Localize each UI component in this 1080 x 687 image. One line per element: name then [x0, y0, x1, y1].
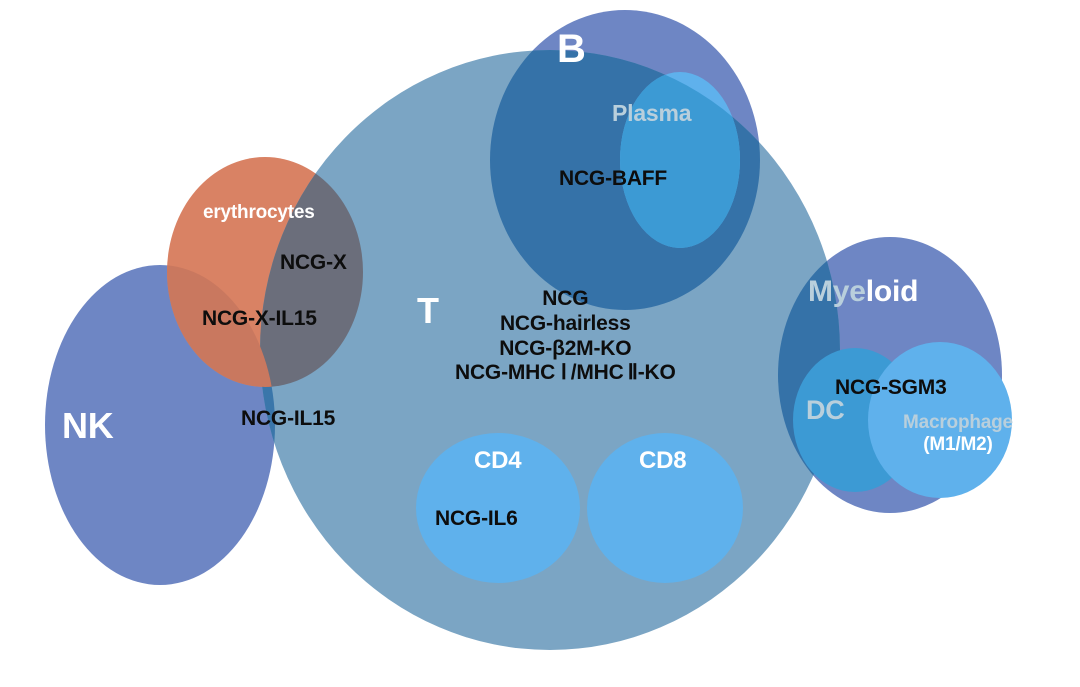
label-myeloid-part1: Mye [808, 275, 866, 308]
label-macrophage-line1: Macrophage [903, 412, 1013, 434]
label-ncg-sgm3: NCG-SGM3 [835, 376, 947, 401]
labels-layer: NK B T erythrocytes NCG-X NCG-X-IL15 NCG… [0, 0, 1080, 687]
venn-diagram: NK B T erythrocytes NCG-X NCG-X-IL15 NCG… [0, 0, 1080, 687]
label-cd4: CD4 [474, 447, 521, 475]
center-strain-list: NCG NCG-hairless NCG-β2M-KO NCG-MHC Ⅰ /M… [455, 287, 676, 386]
label-ncg-il6: NCG-IL6 [435, 507, 518, 532]
label-plasma: Plasma [612, 100, 691, 127]
label-nk: NK [62, 405, 114, 447]
label-macrophage: Macrophage (M1/M2) [903, 412, 1013, 457]
strain-line-hairless: NCG-hairless [455, 312, 676, 337]
strain-line-ncg: NCG [455, 287, 676, 312]
label-myeloid-part2: loid [866, 275, 919, 308]
label-ncg-x: NCG-X [280, 251, 347, 276]
label-ncg-x-il15: NCG-X-IL15 [202, 307, 317, 332]
label-b: B [557, 26, 586, 73]
label-t: T [417, 290, 439, 332]
label-cd8: CD8 [639, 447, 686, 475]
strain-line-b2m-ko: NCG-β2M-KO [455, 337, 676, 362]
strain-line-mhc-ko: NCG-MHC Ⅰ /MHC Ⅱ-KO [455, 361, 676, 386]
label-myeloid: Myeloid [808, 274, 918, 309]
label-plasma-text: Plasma [612, 100, 691, 126]
label-ncg-baff: NCG-BAFF [559, 167, 667, 192]
label-macrophage-line2: (M1/M2) [903, 434, 1013, 456]
label-ncg-il15: NCG-IL15 [241, 407, 335, 432]
label-erythrocytes: erythrocytes [203, 202, 315, 224]
